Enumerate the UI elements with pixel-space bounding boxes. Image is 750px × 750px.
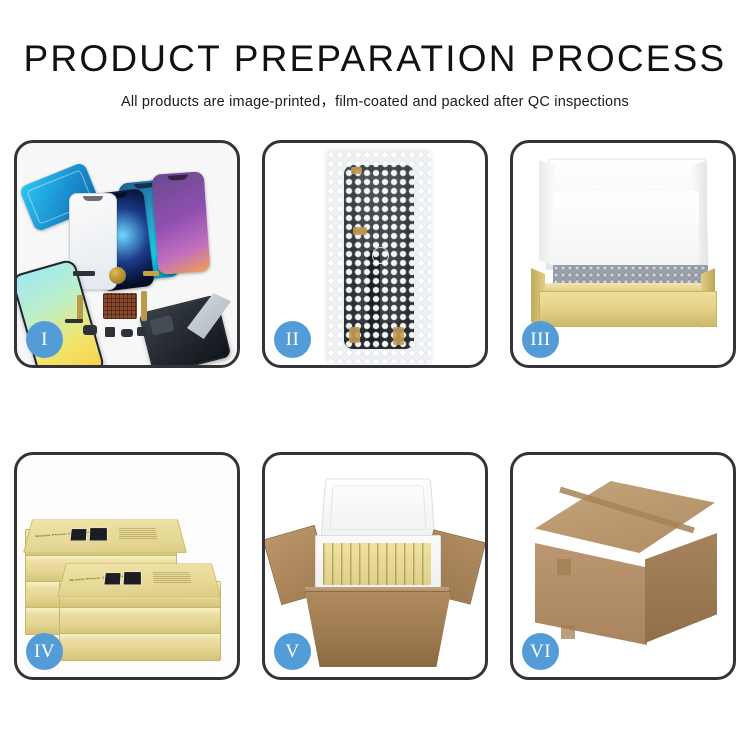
step-panel-3: III: [510, 140, 736, 368]
step-badge-5: V: [274, 633, 311, 670]
carton-body: [305, 591, 451, 667]
tape-piece-4: [393, 327, 404, 345]
page-title: PRODUCT PREPARATION PROCESS: [0, 40, 750, 79]
box-art-screen-3: [103, 573, 121, 585]
bubble-wrap-package: [327, 151, 431, 363]
speaker-module: [109, 267, 126, 284]
carton-tab-bottom: [561, 625, 575, 639]
tape-piece-1: [351, 167, 362, 174]
step-panel-6: VI: [510, 452, 736, 680]
small-chip-2: [105, 327, 115, 337]
step-badge-6: VI: [522, 633, 559, 670]
box-art-screen-2: [89, 528, 108, 541]
packed-yellow-boxes: [323, 543, 431, 585]
header: PRODUCT PREPARATION PROCESS All products…: [0, 0, 750, 111]
step-panel-2: II: [262, 140, 488, 368]
foam-sheet: [553, 191, 699, 265]
button-part: [121, 329, 133, 337]
flex-cable-2: [141, 291, 147, 321]
carton-right-face: [645, 533, 717, 643]
phone-screen-purple: [152, 171, 211, 274]
carton-left-face: [535, 543, 647, 645]
step-panel-4: Mobile Phone Spare Parts Mobile Phone Sp…: [14, 452, 240, 680]
product-preparation-infographic: PRODUCT PREPARATION PROCESS All products…: [0, 0, 750, 750]
box-art-screen-1: [69, 529, 87, 541]
box-spec-lines-front: [153, 572, 192, 583]
carton-tab-top: [557, 559, 571, 575]
box-art-screen-4: [123, 572, 142, 585]
steps-grid: I II: [14, 140, 736, 680]
flex-cable-1: [77, 295, 83, 321]
step-badge-2: II: [274, 321, 311, 358]
small-chip-1: [73, 271, 95, 276]
step-panel-5: V: [262, 452, 488, 680]
camera-module: [83, 325, 97, 335]
tape-piece-3: [349, 327, 360, 343]
box-spec-lines-rear: [119, 528, 158, 539]
coil-mark: [372, 247, 389, 264]
step-badge-4: IV: [26, 633, 63, 670]
box-front-panel: [539, 291, 717, 327]
box-lid-top-front: Mobile Phone Spare Parts: [57, 564, 221, 597]
gold-connector: [143, 271, 159, 276]
box-lid-top-rear: Mobile Phone Spare Parts: [23, 520, 187, 553]
tape-piece-2: [353, 227, 367, 235]
small-chip-3: [137, 327, 146, 336]
flex-cable-strip: [367, 251, 380, 347]
logic-board: [103, 293, 137, 319]
page-subtitle: All products are image-printed，film-coat…: [0, 90, 750, 111]
step-badge-3: III: [522, 321, 559, 358]
foam-box-lid: [321, 478, 436, 537]
step-panel-1: I: [14, 140, 240, 368]
step-badge-1: I: [26, 321, 63, 358]
small-chip-4: [65, 319, 83, 323]
